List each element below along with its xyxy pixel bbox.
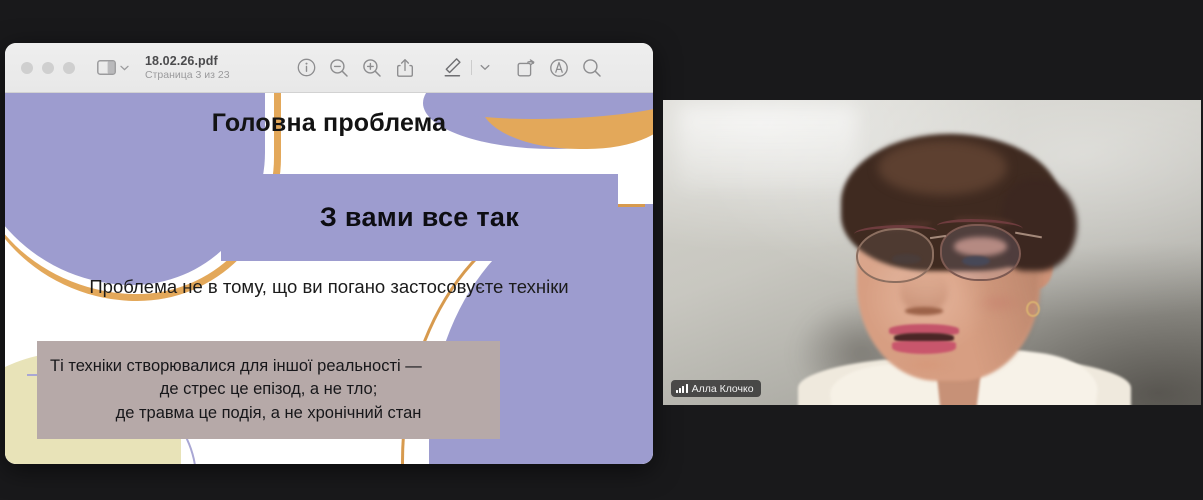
signal-bars-icon xyxy=(676,384,688,393)
sidebar-icon xyxy=(97,60,116,75)
video-background-panel xyxy=(679,106,857,191)
slide-title: Головна проблема xyxy=(5,109,653,138)
markup-button[interactable] xyxy=(436,53,469,83)
minimize-button[interactable] xyxy=(42,62,54,74)
rotate-button[interactable] xyxy=(510,53,543,83)
desktop-screen: 18.02.26.pdf Страница 3 из 23 xyxy=(0,0,1203,500)
participant-name: Алла Клочко xyxy=(692,383,754,395)
zoom-in-icon xyxy=(362,58,382,78)
search-button[interactable] xyxy=(576,53,609,83)
zoom-in-button[interactable] xyxy=(356,53,389,83)
document-title-block: 18.02.26.pdf Страница 3 из 23 xyxy=(145,54,230,81)
slide-callout-box: Ті техніки створювалися для іншої реальн… xyxy=(37,341,500,439)
callout-line: де травма це подія, а не хронічний стан xyxy=(116,402,422,425)
participant-name-badge: Алла Клочко xyxy=(671,380,761,397)
rotate-icon xyxy=(516,58,536,78)
pdf-preview-window[interactable]: 18.02.26.pdf Страница 3 из 23 xyxy=(5,43,653,464)
annotate-button[interactable] xyxy=(543,53,576,83)
search-icon xyxy=(582,58,602,78)
markup-pen-icon xyxy=(443,57,462,78)
toolbar-separator xyxy=(471,60,472,75)
markup-options-button[interactable] xyxy=(474,53,496,83)
slide-hero-box: З вами все так xyxy=(221,174,618,261)
info-icon xyxy=(297,58,316,77)
window-traffic-lights[interactable] xyxy=(21,62,75,74)
participant-chin xyxy=(889,356,964,377)
zoom-button[interactable] xyxy=(63,62,75,74)
document-title: 18.02.26.pdf xyxy=(145,54,230,68)
slide-hero-text: З вами все так xyxy=(320,202,519,233)
callout-line: де стрес це епізод, а не тло; xyxy=(160,378,378,401)
share-button[interactable] xyxy=(389,53,422,83)
video-participant-tile[interactable]: Алла Клочко xyxy=(663,100,1201,405)
participant-hair-highlight xyxy=(878,140,1007,195)
page-status: Страница 3 из 23 xyxy=(145,69,230,81)
annotate-icon xyxy=(549,58,569,78)
info-button[interactable] xyxy=(290,53,323,83)
chevron-down-icon xyxy=(120,65,129,71)
participant-cheek xyxy=(964,286,1034,320)
pdf-page-canvas[interactable]: Головна проблема З вами все так Проблема… xyxy=(5,93,653,464)
pdf-toolbar: 18.02.26.pdf Страница 3 из 23 xyxy=(5,43,653,93)
callout-line: Ті техніки створювалися для іншої реальн… xyxy=(50,355,422,378)
share-icon xyxy=(396,58,414,78)
close-button[interactable] xyxy=(21,62,33,74)
participant-nostrils xyxy=(905,307,943,314)
participant-lower-lip xyxy=(892,341,957,354)
zoom-out-icon xyxy=(329,58,349,78)
zoom-out-button[interactable] xyxy=(323,53,356,83)
toolbar-button-group xyxy=(290,53,609,83)
sidebar-toggle-button[interactable] xyxy=(97,60,129,75)
participant-glasses-frame-left xyxy=(854,225,937,240)
markup-chevron-down-icon xyxy=(480,64,490,71)
slide-body-line: Проблема не в тому, що ви погано застосо… xyxy=(5,276,653,298)
